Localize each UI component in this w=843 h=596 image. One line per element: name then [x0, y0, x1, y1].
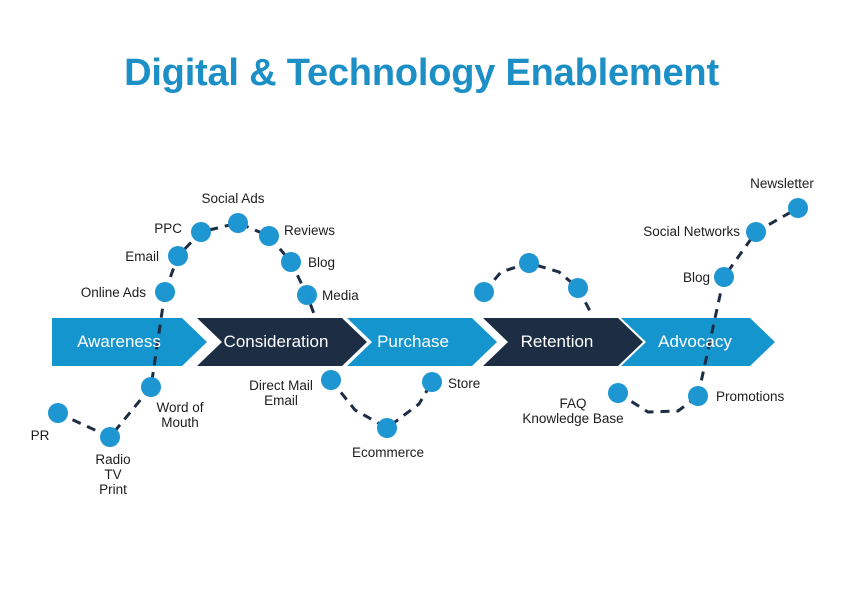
- touchpoint-label-media: Media: [322, 288, 359, 303]
- touchpoint-label-ecommerce: Ecommerce: [288, 445, 488, 460]
- touchpoint-label-blog-awareness: Blog: [308, 255, 335, 270]
- touchpoint-dot-ppc[interactable]: [191, 222, 211, 242]
- touchpoint-dot-ecommerce[interactable]: [377, 418, 397, 438]
- touchpoint-label-reviews: Reviews: [284, 223, 335, 238]
- touchpoint-dot-newsletter[interactable]: [788, 198, 808, 218]
- touchpoint-dot-promotions[interactable]: [688, 386, 708, 406]
- touchpoint-label-blog-advocacy: Blog: [510, 270, 710, 285]
- touchpoint-dot-email[interactable]: [168, 246, 188, 266]
- touchpoint-dot-pr[interactable]: [48, 403, 68, 423]
- touchpoint-dot-media[interactable]: [297, 285, 317, 305]
- touchpoint-dot-online-ads[interactable]: [155, 282, 175, 302]
- touchpoint-label-direct-mail: Direct Mail Email: [181, 378, 381, 408]
- stage-label-advocacy: Advocacy: [595, 318, 795, 366]
- touchpoint-dot-reviews[interactable]: [259, 226, 279, 246]
- touchpoint-dot-social-ads[interactable]: [228, 213, 248, 233]
- touchpoint-label-store: Store: [448, 376, 480, 391]
- touchpoint-label-radio-tv-print: Radio TV Print: [13, 452, 213, 497]
- diagram-canvas: Digital & Technology Enablement Awarenes…: [0, 0, 843, 596]
- touchpoint-label-social-ads: Social Ads: [133, 191, 333, 206]
- path-awareness-arch: [165, 223, 320, 330]
- touchpoint-label-email: Email: [0, 249, 159, 264]
- touchpoint-dot-retention-left[interactable]: [474, 282, 494, 302]
- touchpoint-dot-store[interactable]: [422, 372, 442, 392]
- touchpoint-dot-word-of-mouth[interactable]: [141, 377, 161, 397]
- touchpoint-label-social-networks: Social Networks: [540, 224, 740, 239]
- touchpoint-label-ppc: PPC: [0, 221, 182, 236]
- touchpoint-label-pr: PR: [0, 428, 140, 443]
- touchpoint-dot-blog-awareness[interactable]: [281, 252, 301, 272]
- touchpoint-dot-social-networks[interactable]: [746, 222, 766, 242]
- touchpoint-label-newsletter: Newsletter: [682, 176, 843, 191]
- touchpoint-dot-blog-advocacy[interactable]: [714, 267, 734, 287]
- touchpoint-label-faq-kb: FAQ Knowledge Base: [473, 396, 673, 426]
- touchpoint-label-promotions: Promotions: [716, 389, 784, 404]
- touchpoint-label-online-ads: Online Ads: [0, 285, 146, 300]
